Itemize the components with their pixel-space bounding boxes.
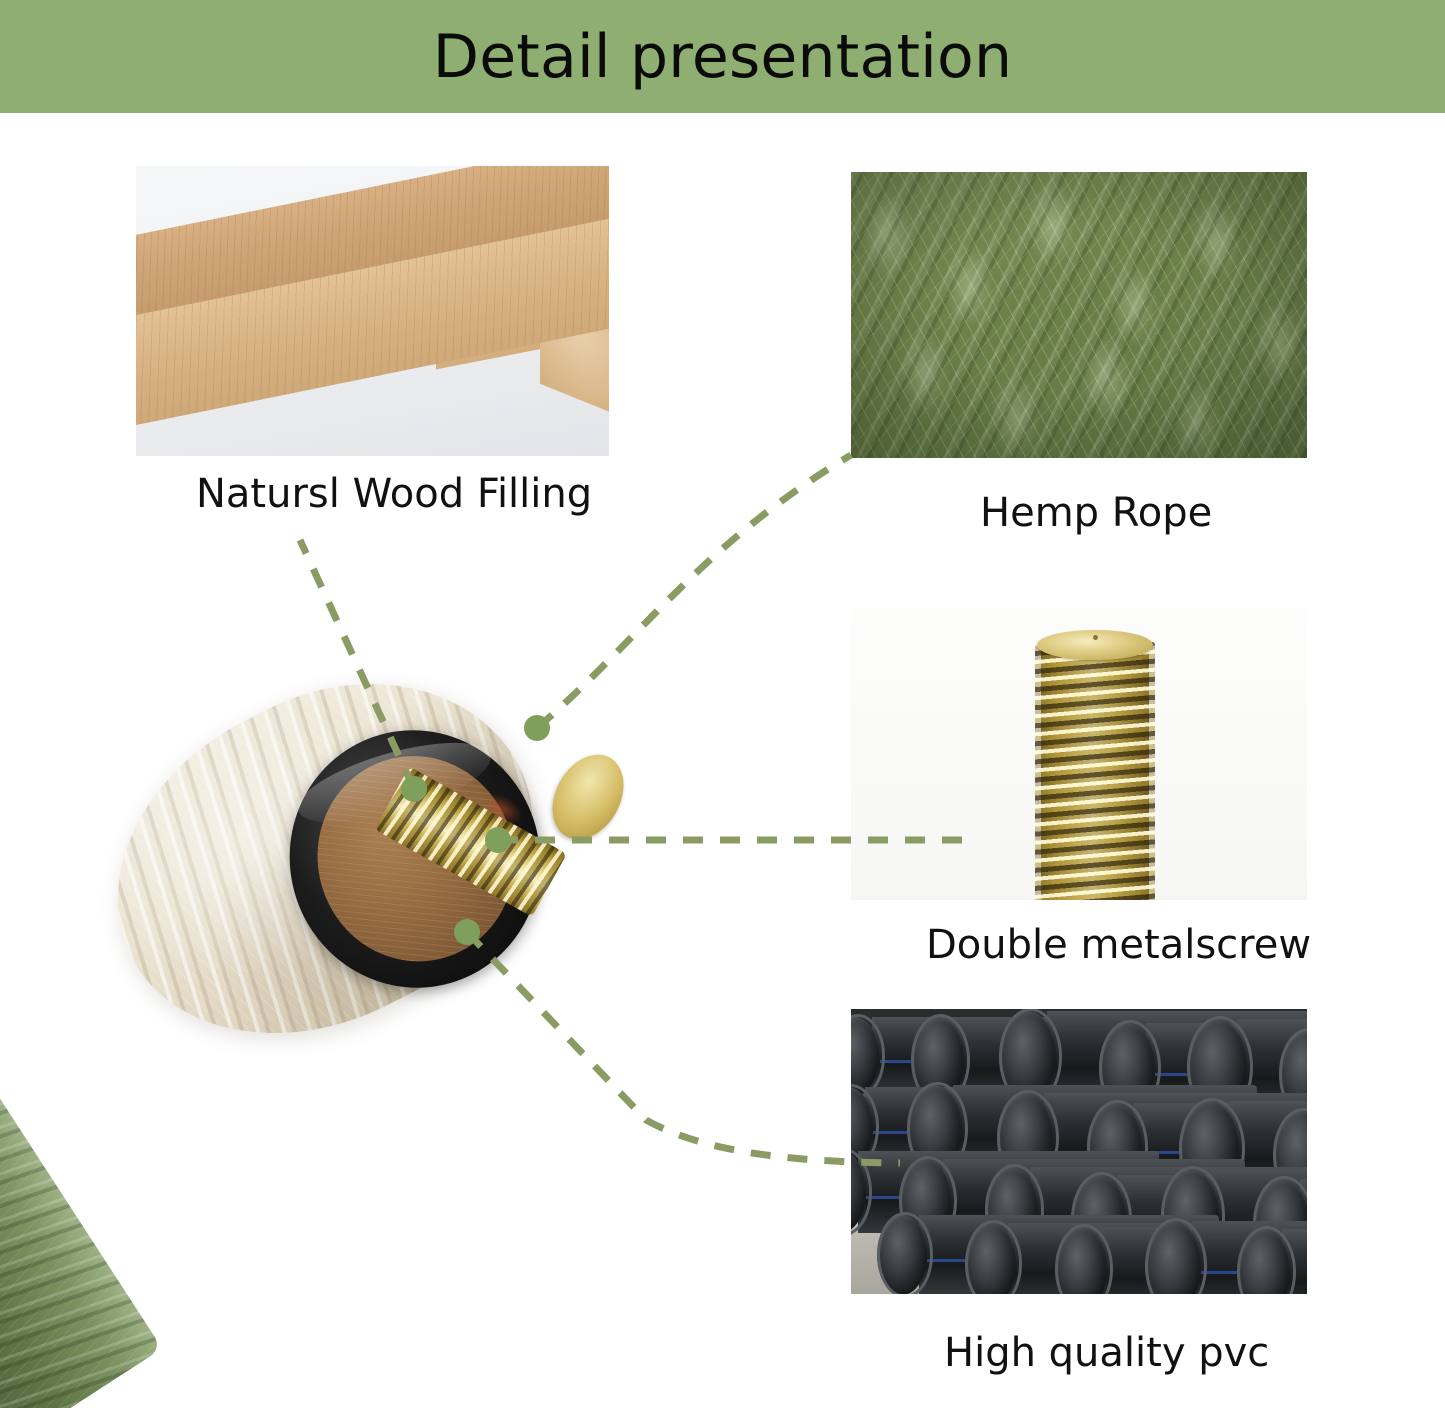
photo-hemp-rope [851,172,1307,458]
photo-pvc-pipes [851,1009,1307,1294]
callout-dot-screw[interactable] [485,827,511,853]
pvc-pipe [1239,1229,1307,1294]
label-high-quality-pvc: High quality pvc [944,1333,1269,1373]
photo-wood-filling [136,166,609,456]
label-wood-filling: Natursl Wood Filling [196,474,592,514]
scratching-post [0,640,640,1408]
infographic-page: Detail presentation [0,0,1445,1408]
screw-top-nick [1093,635,1098,640]
post-green-hemp-texture [0,988,162,1408]
header-band: Detail presentation [0,0,1445,113]
page-title: Detail presentation [433,27,1012,87]
photo-metal-screw [851,608,1307,900]
pvc-pipe-rim [877,1212,933,1294]
post-brass-screw-endface [538,742,638,852]
label-hemp-rope: Hemp Rope [980,493,1212,533]
post-green-hemp-shaft [0,988,162,1408]
photo-product-scratching-post [0,640,640,1408]
callout-dot-hemp[interactable] [524,715,550,741]
screw-threads [1035,642,1155,900]
callout-dot-wood[interactable] [401,776,427,802]
hemp-rope-vignette [851,172,1307,458]
callout-dot-pvc[interactable] [454,919,480,945]
label-double-metalscrew: Double metalscrew [926,925,1311,965]
